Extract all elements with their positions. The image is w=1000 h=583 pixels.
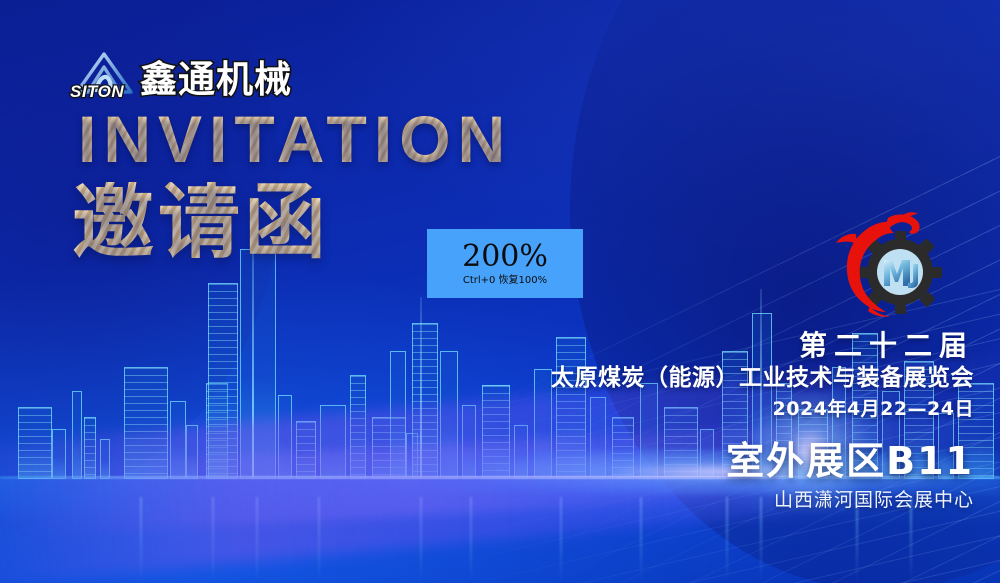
- expo-date: 2024年4月22—24日: [551, 395, 974, 424]
- skyline-building: [206, 383, 228, 479]
- zoom-level-indicator: 200% Ctrl+0 恢复100%: [427, 229, 583, 298]
- reflection-streak: [140, 497, 142, 583]
- zoom-reset-hint: Ctrl+0 恢复100%: [463, 276, 547, 286]
- reflection-streak: [640, 497, 642, 583]
- skyline-building: [84, 417, 96, 479]
- reflection-streak: [212, 497, 214, 583]
- booth-venue: 山西潇河国际会展中心: [726, 486, 974, 515]
- siton-mountain-logo-icon: SITON: [76, 52, 134, 100]
- skyline-building: [100, 439, 110, 479]
- zoom-percentage: 200%: [462, 242, 548, 272]
- skyline-building: [320, 405, 346, 479]
- skyline-spire: [420, 297, 422, 479]
- skyline-building: [412, 323, 438, 479]
- skyline-building: [170, 401, 186, 479]
- reflection-streak: [470, 497, 472, 583]
- reflection-streak: [420, 497, 422, 583]
- booth-number: 室外展区B11: [726, 440, 974, 483]
- expo-info: 第二十二届 太原煤炭（能源）工业技术与装备展览会 2024年4月22—24日: [551, 330, 974, 424]
- page-title-english: INVITATION: [78, 106, 512, 172]
- skyline-building: [124, 367, 168, 479]
- skyline-building: [296, 421, 316, 479]
- invitation-banner: SITON 鑫通机械 INVITATION 邀请函 200% Ctrl+0 恢复…: [0, 0, 1000, 583]
- brand-latin-name: SITON: [70, 82, 124, 102]
- skyline-building: [700, 429, 714, 479]
- skyline-building: [534, 369, 552, 479]
- skyline-building: [612, 417, 634, 479]
- skyline-building: [440, 351, 458, 479]
- company-logo: SITON 鑫通机械: [76, 52, 292, 100]
- skyline-building: [52, 429, 66, 479]
- skyline-building: [372, 417, 406, 479]
- skyline-building: [462, 405, 476, 479]
- reflection-streak: [318, 497, 320, 583]
- brand-chinese-name: 鑫通机械: [140, 61, 292, 98]
- skyline-building: [278, 395, 292, 479]
- reflection-streak: [256, 497, 258, 583]
- skyline-building: [390, 351, 406, 479]
- skyline-building: [514, 425, 528, 479]
- skyline-building: [240, 249, 276, 479]
- reflection-streak: [560, 497, 562, 583]
- skyline-building: [406, 433, 418, 479]
- skyline-building: [186, 425, 198, 479]
- expo-name: 太原煤炭（能源）工业技术与装备展览会: [551, 364, 974, 394]
- expo-edition: 第二十二届: [551, 330, 974, 362]
- skyline-building: [482, 385, 510, 479]
- booth-info: 室外展区B11 山西潇河国际会展中心: [726, 440, 974, 514]
- skyline-building: [72, 391, 82, 479]
- skyline-building: [350, 375, 366, 479]
- page-title-chinese: 邀请函: [72, 182, 330, 264]
- skyline-building: [18, 407, 52, 479]
- dragon-gear-expo-emblem-icon: [818, 206, 950, 334]
- skyline-building: [208, 283, 238, 479]
